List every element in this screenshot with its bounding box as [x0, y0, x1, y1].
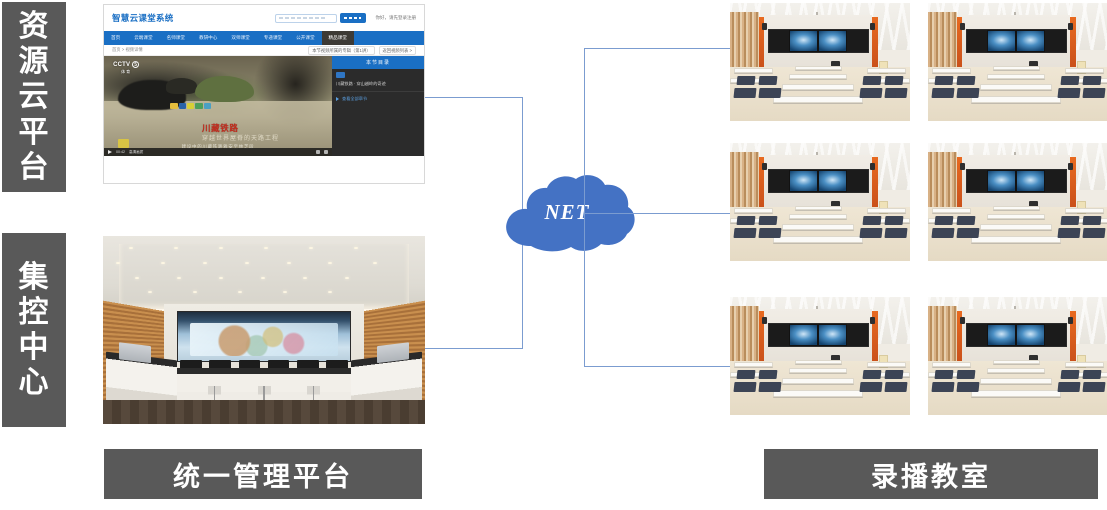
cctv-logo: CCTV 5 体育 — [113, 61, 139, 75]
nav-item-delivery-class[interactable]: 专递课堂 — [257, 31, 289, 45]
student-desks — [928, 200, 1107, 261]
classroom-photo-3 — [730, 143, 910, 261]
video-mountain — [195, 76, 254, 102]
speaker-left — [960, 163, 965, 170]
speaker-right — [870, 163, 875, 170]
chapter-divider — [332, 91, 424, 92]
platform-body: CCTV 5 体育 川藏铁路 穿越世界屋脊的天路工程 建设中的川藏铁路雅安至林芝… — [104, 56, 424, 156]
chevron-right-icon — [336, 97, 339, 101]
breadcrumb-text[interactable]: 首页 > 视频详情 — [112, 47, 143, 53]
video-block-prop — [118, 139, 129, 148]
section-label-control-center: 集 控 中 心 — [2, 233, 66, 427]
label-char: 平 — [19, 115, 50, 150]
label-char: 心 — [19, 365, 50, 400]
cctv-logo-main: CCTV — [113, 62, 130, 68]
breadcrumb-back-link[interactable]: 返回视频列表 > — [379, 46, 416, 55]
diagram-canvas: 资 源 云 平 台 集 控 中 心 NET 智慧云课堂系统 你好，请先 — [0, 0, 1107, 510]
speaker-left — [762, 317, 767, 324]
chapter-view-all-link[interactable]: 查看全部章节 — [336, 96, 420, 102]
speaker-right — [870, 23, 875, 30]
speaker-left — [960, 317, 965, 324]
classroom-photo-1 — [730, 3, 910, 121]
student-desks — [928, 354, 1107, 415]
label-char: 云 — [19, 79, 50, 114]
video-wall-display — [177, 311, 351, 362]
search-button[interactable] — [340, 13, 366, 23]
classroom-photo-4 — [928, 143, 1107, 261]
nav-item-dual-teacher[interactable]: 双师课堂 — [224, 31, 256, 45]
window-curtain — [730, 306, 759, 360]
search-input[interactable] — [275, 14, 337, 23]
window-curtain — [730, 12, 759, 66]
interactive-display-board — [966, 323, 1067, 347]
label-char: 源 — [19, 44, 50, 79]
speaker-right — [1068, 317, 1073, 324]
label-char: 集 — [19, 260, 50, 295]
connector-to-classroom-row-3 — [584, 366, 731, 367]
section-label-resource-cloud-platform: 资 源 云 平 台 — [2, 2, 66, 192]
cctv-logo-sub: 体育 — [121, 69, 131, 75]
chapter-item-title[interactable]: 川藏铁路 · 穿山越岭的奇迹 — [336, 81, 420, 87]
speaker-left — [762, 163, 767, 170]
platform-logo: 智慧云课堂系统 — [112, 12, 174, 24]
nav-item-master-class[interactable]: 名师课堂 — [160, 31, 192, 45]
nav-item-premium-class[interactable]: 精品课堂 — [322, 31, 354, 45]
interactive-display-board — [768, 29, 869, 53]
classroom-photo-5 — [730, 297, 910, 415]
fullscreen-icon[interactable] — [324, 150, 328, 154]
speaker-left — [762, 23, 767, 30]
chapter-panel-header: 本节目录 — [332, 56, 424, 69]
resource-cloud-platform-screenshot[interactable]: 智慧云课堂系统 你好，请先登录注册 首页 云端课堂 名师课堂 教研中心 双师课堂… — [103, 4, 425, 184]
interactive-display-board — [966, 29, 1067, 53]
label-char: 控 — [19, 295, 50, 330]
interactive-display-board — [768, 169, 869, 193]
speaker-left — [960, 23, 965, 30]
window-curtain — [928, 152, 957, 206]
window-curtain — [928, 12, 957, 66]
video-chapter-panel: 本节目录 川藏铁路 · 穿山越岭的奇迹 查看全部章节 — [332, 56, 424, 156]
cctv-logo-number: 5 — [132, 61, 139, 68]
video-player[interactable]: CCTV 5 体育 川藏铁路 穿越世界屋脊的天路工程 建设中的川藏铁路雅安至林芝… — [104, 56, 332, 156]
student-desks — [730, 354, 910, 415]
floor — [103, 400, 425, 424]
classroom-photo-2 — [928, 3, 1107, 121]
chapter-index-badge — [336, 72, 345, 78]
interactive-display-board — [768, 323, 869, 347]
student-desks — [730, 200, 910, 261]
connector-to-classroom-row-2 — [584, 213, 731, 214]
interactive-display-board — [966, 169, 1067, 193]
speaker-right — [1068, 163, 1073, 170]
platform-header: 智慧云课堂系统 你好，请先登录注册 — [104, 5, 424, 31]
caption-recording-classroom: 录播教室 — [764, 449, 1098, 499]
nav-item-open-class[interactable]: 公开课堂 — [289, 31, 321, 45]
breadcrumb-right: 本节视频所属的专辑（第1讲） 返回视频列表 > — [308, 46, 416, 55]
breadcrumb: 首页 > 视频详情 本节视频所属的专辑（第1讲） 返回视频列表 > — [104, 45, 424, 56]
label-char: 中 — [19, 330, 50, 365]
control-center-photo — [103, 236, 425, 424]
classroom-photo-6 — [928, 297, 1107, 415]
connector-to-classroom-row-1 — [584, 48, 731, 49]
label-char: 资 — [19, 9, 50, 44]
window-curtain — [730, 152, 759, 206]
speaker-right — [1068, 23, 1073, 30]
volume-icon[interactable] — [316, 150, 320, 154]
map-visualization — [190, 323, 338, 356]
label-char: 台 — [19, 150, 50, 185]
nav-item-research-center[interactable]: 教研中心 — [192, 31, 224, 45]
video-train-model — [170, 103, 211, 109]
breadcrumb-album[interactable]: 本节视频所属的专辑（第1讲） — [308, 46, 374, 55]
caption-unified-management-platform: 统一管理平台 — [104, 449, 422, 499]
student-desks — [928, 60, 1107, 121]
user-login-text[interactable]: 你好，请先登录注册 — [376, 15, 417, 21]
platform-nav[interactable]: 首页 云端课堂 名师课堂 教研中心 双师课堂 专递课堂 公开课堂 精品课堂 — [104, 31, 424, 45]
connector-platform-to-bus — [424, 97, 523, 98]
connector-controlcenter-to-bus — [424, 348, 523, 349]
nav-item-cloud-class[interactable]: 云端课堂 — [127, 31, 159, 45]
video-title-sub: 穿越世界屋脊的天路工程 — [202, 133, 279, 142]
speaker-right — [870, 317, 875, 324]
window-curtain — [928, 306, 957, 360]
video-controls[interactable]: 00:42 高清画质 — [104, 148, 332, 156]
chapter-view-all-label: 查看全部章节 — [342, 96, 367, 102]
play-icon[interactable] — [108, 150, 112, 154]
video-quality[interactable]: 高清画质 — [129, 150, 143, 155]
video-time: 00:42 — [116, 150, 125, 154]
student-desks — [730, 60, 910, 121]
connector-right-bus — [584, 48, 585, 366]
nav-item-home[interactable]: 首页 — [104, 31, 127, 45]
platform-search[interactable] — [275, 13, 366, 23]
video-terrain-mid — [166, 78, 198, 94]
